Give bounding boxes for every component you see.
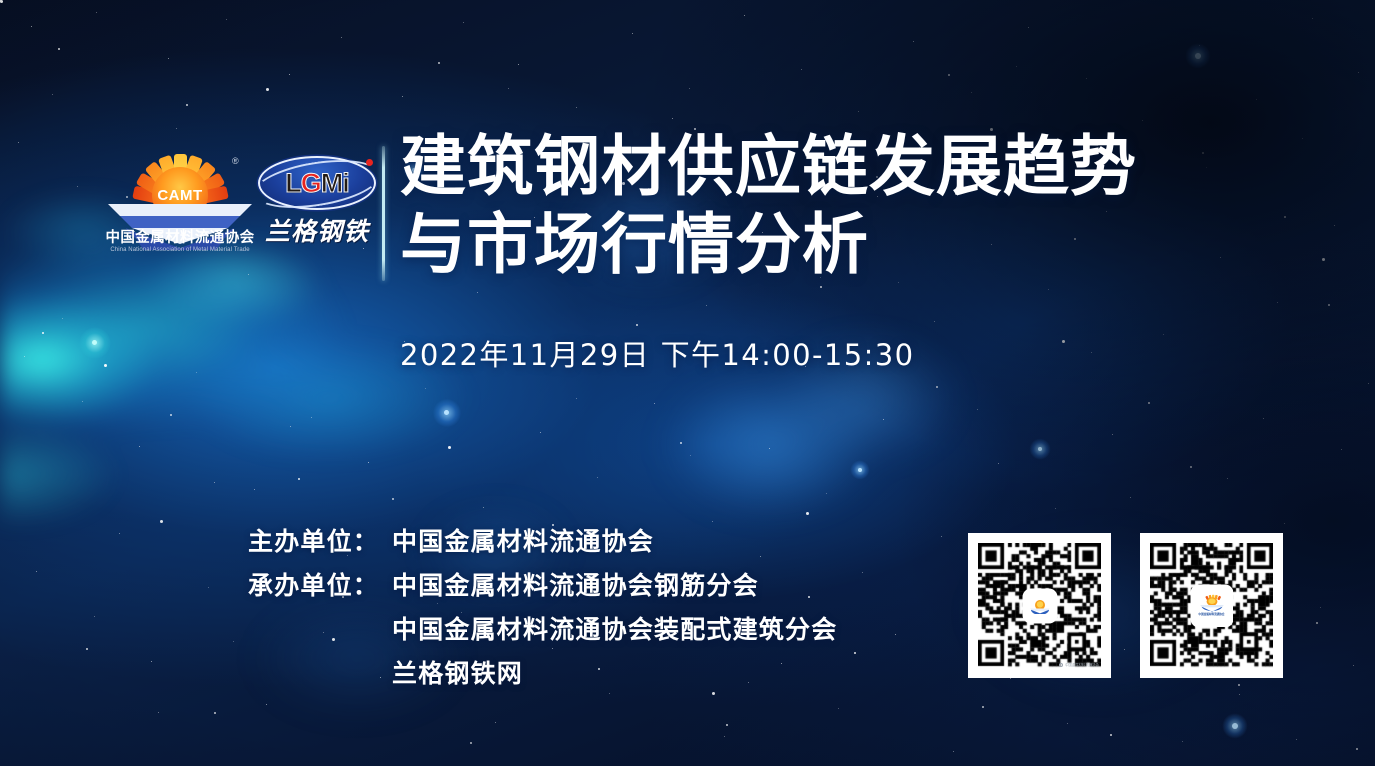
camt-emblem-icon <box>1198 594 1226 614</box>
qr-center-logo-emblem-icon: 中国金属材料流通协会 <box>1192 586 1232 626</box>
title-line-1: 建筑钢材供应链发展趋势 <box>400 128 1240 206</box>
organizer-value: 中国金属材料流通协会装配式建筑分会 <box>392 610 837 646</box>
organizer-block: 主办单位： 中国金属材料流通协会 承办单位： 中国金属材料流通协会钢筋分会 中国… <box>248 522 837 698</box>
lgmi-letter-mi: Mi <box>321 170 349 197</box>
lgmi-logo: L G Mi 兰格钢铁 <box>252 150 382 262</box>
organizer-row: 主办单位： 中国金属材料流通协会 <box>248 522 837 566</box>
qr-watermark-text: 中国金属材料流通协会 <box>1065 662 1099 667</box>
title-divider <box>382 146 385 281</box>
qr-inner: 中国金属材料流通协会 <box>978 543 1101 668</box>
qr-inner: 中国金属材料流通协会 <box>1150 543 1273 668</box>
logo-row: CAMT ® 中国金属材料流通协会 China National Associa… <box>86 148 376 270</box>
qr-code-camt-association[interactable]: 中国金属材料流通协会 <box>1140 533 1283 678</box>
lgmi-letter-l: L <box>285 170 301 197</box>
camt-chinese-name: 中国金属材料流通协会 <box>104 226 256 247</box>
lgmi-chinese-name: 兰格钢铁 <box>252 212 382 248</box>
event-datetime: 2022年11月29日 下午14:00-15:30 <box>400 332 914 374</box>
organizer-row: 中国金属材料流通协会装配式建筑分会 <box>248 610 837 654</box>
organizer-label: 承办单位： <box>248 566 392 602</box>
title-line-2: 与市场行情分析 <box>400 206 1240 284</box>
organizer-label: 主办单位： <box>248 522 392 558</box>
camt-logo: CAMT ® 中国金属材料流通协会 China National Associa… <box>104 150 256 268</box>
organizer-value: 中国金属材料流通协会 <box>392 522 654 558</box>
lgmi-letter-g: G <box>301 170 321 197</box>
organizer-row: 兰格钢铁网 <box>248 654 837 698</box>
qr-watermark-icon <box>1059 663 1063 667</box>
organizer-row: 承办单位： 中国金属材料流通协会钢筋分会 <box>248 566 837 610</box>
poster-root: CAMT ® 中国金属材料流通协会 China National Associa… <box>0 0 1375 766</box>
lgmi-wordmark: L G Mi <box>285 170 349 197</box>
lgmi-dot-icon <box>366 159 373 166</box>
qr-code-wechat-official[interactable]: 中国金属材料流通协会 <box>968 533 1111 678</box>
page-title: 建筑钢材供应链发展趋势 与市场行情分析 <box>400 128 1240 284</box>
camt-english-name: China National Association of Metal Mate… <box>102 246 257 253</box>
poster-content: CAMT ® 中国金属材料流通协会 China National Associa… <box>0 0 1375 766</box>
qr-center-logo-sun-icon <box>1024 590 1056 622</box>
qr-badge-caption: 中国金属材料流通协会 <box>1199 614 1225 617</box>
organizer-value: 中国金属材料流通协会钢筋分会 <box>392 566 759 602</box>
registered-trademark-icon: ® <box>232 156 239 166</box>
camt-sun-icon <box>1029 598 1051 614</box>
qr-watermark: 中国金属材料流通协会 <box>1059 662 1099 667</box>
organizer-value: 兰格钢铁网 <box>392 654 523 690</box>
